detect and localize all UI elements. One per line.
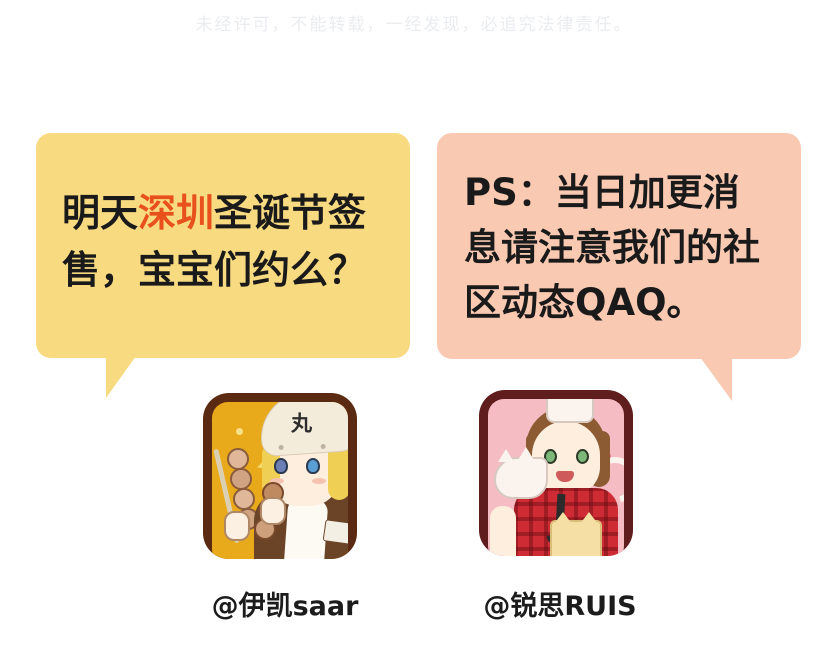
character-eye-left — [274, 458, 288, 474]
sparkle-dot-icon — [236, 428, 243, 435]
hat-stud-icon — [321, 444, 326, 449]
character-hand-left — [224, 511, 250, 541]
avatar-image-left[interactable]: 丸 — [203, 393, 357, 559]
cat-face-bag — [550, 520, 602, 556]
bubble-left-segment-highlight: 深圳 — [138, 191, 214, 235]
avatar-right-artwork — [488, 399, 624, 556]
speech-bubble-right-text: PS：当日加更消息请注意我们的社区动态QAQ。 — [437, 165, 801, 330]
username-right[interactable]: @锐思RUIS — [455, 584, 665, 623]
dango-ball — [227, 448, 249, 470]
character-blush-right — [312, 478, 326, 484]
avatar-block-right[interactable] — [479, 390, 639, 556]
speech-bubble-left-tail — [106, 356, 136, 398]
bubble-left-segment-0: 明天 — [62, 191, 138, 235]
copyright-watermark: 未经许可，不能转载，一经发现，必追究法律责任。 — [0, 10, 828, 35]
character-eye-right — [576, 449, 589, 464]
avatar-image-right[interactable] — [479, 390, 633, 556]
avatar-block-left[interactable]: 丸 — [203, 393, 363, 559]
speech-bubble-right-tail — [700, 357, 732, 401]
character-eye-right — [306, 458, 320, 474]
hat-stud-icon — [278, 445, 283, 450]
speech-bubble-left: 明天深圳圣诞节签售，宝宝们约么？ — [36, 133, 410, 358]
hat-kanji-character: 丸 — [291, 407, 312, 437]
cat-ear-icon — [518, 447, 534, 460]
white-cat-on-head — [546, 399, 594, 423]
speech-bubble-right: PS：当日加更消息请注意我们的社区动态QAQ。 — [437, 133, 801, 359]
avatar-left-artwork: 丸 — [212, 402, 348, 559]
character-arm-left — [490, 506, 516, 556]
character-armband — [323, 519, 348, 545]
username-left[interactable]: @伊凯saar — [180, 584, 390, 623]
character-hat: 丸 — [258, 402, 348, 457]
character-hand-right — [260, 497, 286, 525]
white-cat-body — [494, 457, 548, 499]
dango-ball — [233, 488, 255, 510]
speech-bubble-left-text: 明天深圳圣诞节签售，宝宝们约么？ — [36, 185, 410, 299]
dango-ball — [230, 468, 252, 490]
cat-ear-icon — [498, 449, 514, 462]
character-shirt — [284, 498, 329, 559]
